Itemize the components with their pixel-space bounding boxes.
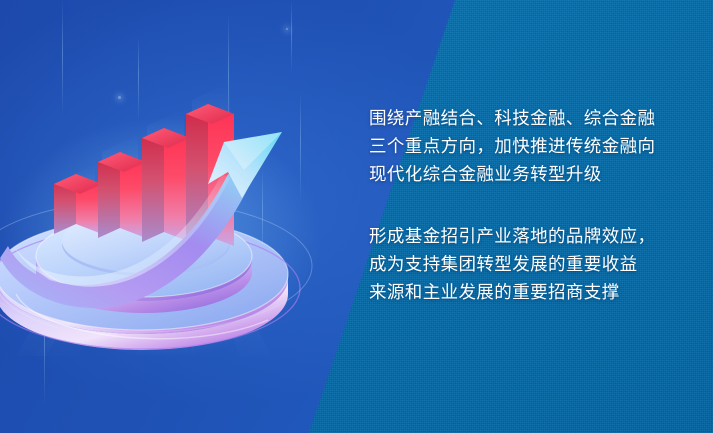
paragraph-2-line-3: 来源和主业发展的重要招商支撑 [369,278,699,306]
growth-chart-illustration [0,88,322,356]
copy-block: 围绕产融结合、科技金融、综合金融 三个重点方向，加快推进传统金融向 现代化综合金… [369,104,699,306]
banner-root: 围绕产融结合、科技金融、综合金融 三个重点方向，加快推进传统金融向 现代化综合金… [0,0,713,433]
paragraph-1-line-2: 三个重点方向，加快推进传统金融向 [369,132,699,160]
paragraph-2-line-1: 形成基金招引产业落地的品牌效应， [369,222,699,250]
paragraph-2-line-2: 成为支持集团转型发展的重要收益 [369,250,699,278]
bar-3 [142,128,190,242]
paragraph-2: 形成基金招引产业落地的品牌效应， 成为支持集团转型发展的重要收益 来源和主业发展… [369,222,699,306]
bar-2 [98,152,146,238]
paragraph-1-line-1: 围绕产融结合、科技金融、综合金融 [369,104,699,132]
paragraph-1: 围绕产融结合、科技金融、综合金融 三个重点方向，加快推进传统金融向 现代化综合金… [369,104,699,188]
paragraph-1-line-3: 现代化综合金融业务转型升级 [369,160,699,188]
